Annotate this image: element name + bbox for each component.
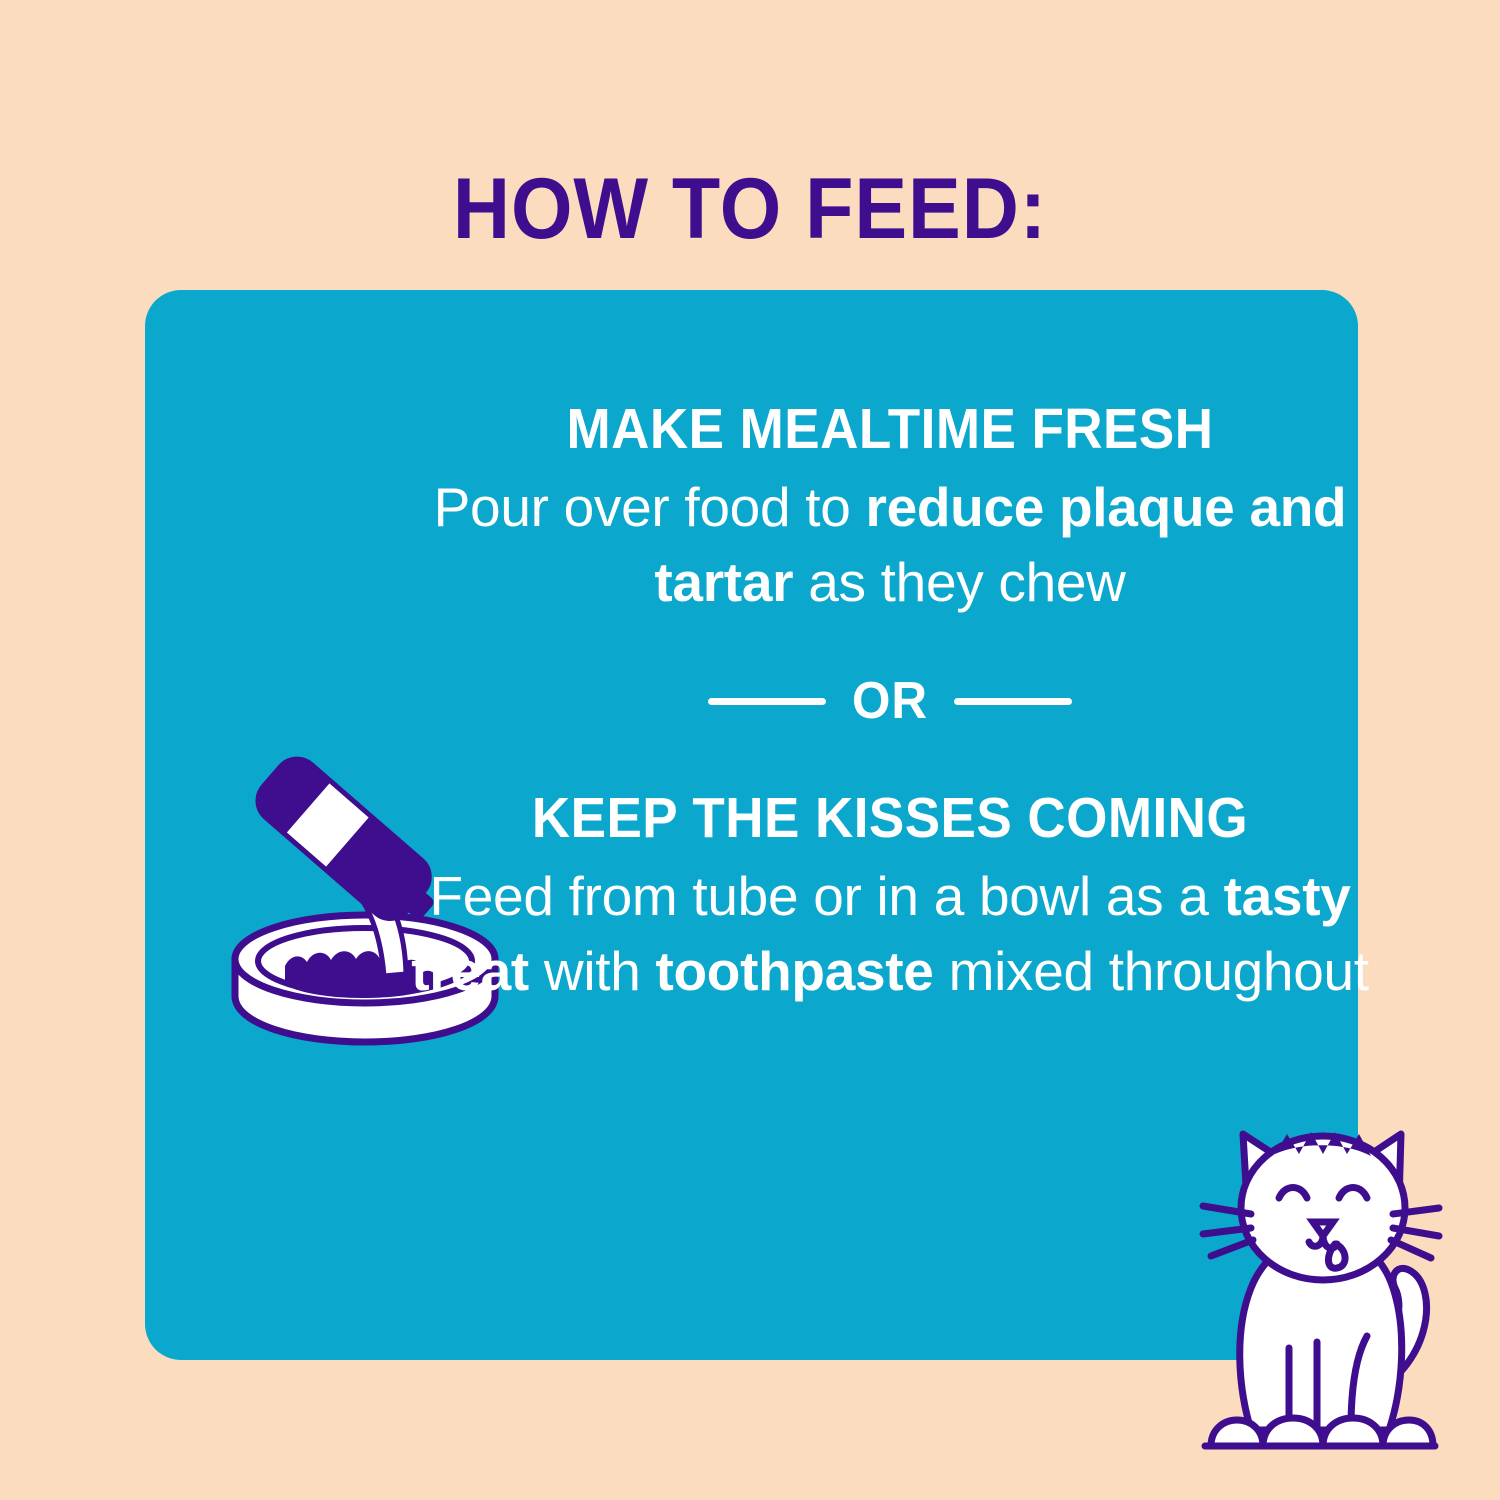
card-text-column: MAKE MEALTIME FRESH Pour over food to re…: [410, 400, 1370, 1009]
page-root: HOW TO FEED:: [0, 0, 1500, 1500]
divider-rule-right: [954, 698, 1072, 705]
how-to-feed-card: MAKE MEALTIME FRESH Pour over food to re…: [145, 290, 1358, 1360]
body-text-plain-2: Feed from tube or in a bowl as a: [429, 865, 1223, 927]
page-title: HOW TO FEED:: [60, 166, 1440, 252]
or-divider: OR: [410, 671, 1370, 731]
divider-label-or: OR: [852, 671, 928, 731]
feed-block-keep-the-kisses-coming: KEEP THE KISSES COMING Feed from tube or…: [410, 789, 1370, 1008]
block-body-keep-the-kisses-coming: Feed from tube or in a bowl as a tasty t…: [410, 859, 1370, 1009]
block-heading-keep-the-kisses-coming: KEEP THE KISSES COMING: [444, 789, 1337, 849]
cat-icon: [1185, 1092, 1447, 1470]
feed-block-make-mealtime-fresh: MAKE MEALTIME FRESH Pour over food to re…: [410, 400, 1370, 619]
block-heading-make-mealtime-fresh: MAKE MEALTIME FRESH: [444, 400, 1337, 460]
body-text-plain-4: mixed throughout: [934, 940, 1369, 1002]
body-text-plain-3: with: [529, 940, 656, 1002]
block-body-make-mealtime-fresh: Pour over food to reduce plaque and tart…: [410, 470, 1370, 620]
body-text-plain-0: Pour over food to: [434, 476, 866, 538]
divider-rule-left: [708, 698, 826, 705]
body-text-plain-1: as they chew: [793, 551, 1125, 613]
body-text-bold-2: toothpaste: [656, 940, 934, 1002]
